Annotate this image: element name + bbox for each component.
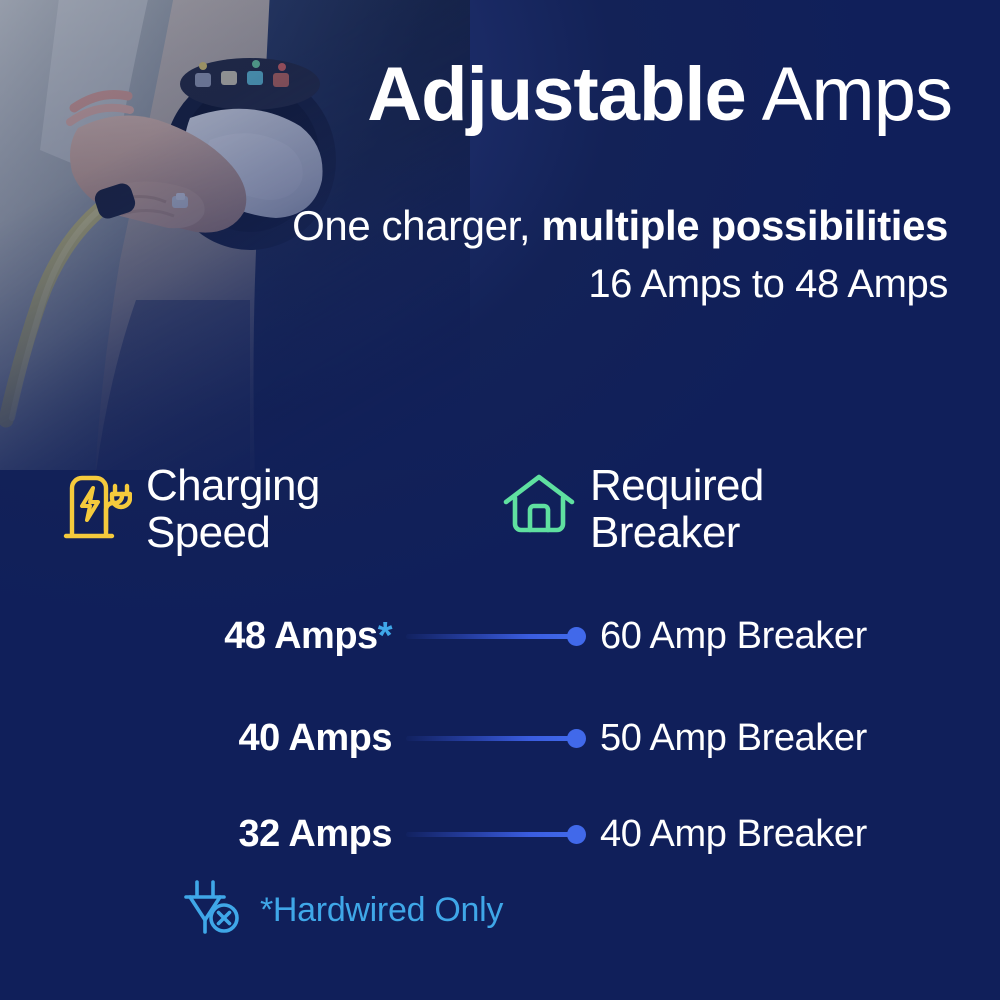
page-title: Adjustable Amps (336, 52, 952, 138)
footnote-text: *Hardwired Only (260, 891, 503, 930)
required-breaker-value: 40 Amp Breaker (600, 813, 867, 856)
table-row: 32 Amps 40 Amp Breaker (0, 806, 1000, 862)
column-header-required-breaker: Required Breaker (502, 462, 764, 556)
connector-line (400, 824, 586, 844)
table-row: 48 Amps* 60 Amp Breaker (0, 608, 1000, 664)
table-row: 40 Amps 50 Amp Breaker (0, 710, 1000, 766)
column-title-charging-speed: Charging Speed (146, 462, 320, 556)
footnote: *Hardwired Only (182, 880, 503, 941)
house-icon (502, 472, 576, 545)
column-title-required-breaker: Required Breaker (590, 462, 764, 556)
required-breaker-value: 60 Amp Breaker (600, 615, 867, 658)
connector-line-stroke (406, 736, 572, 741)
no-plug-icon (182, 880, 244, 941)
title-bold: Adjustable (367, 52, 746, 137)
infographic-poster: Adjustable Amps One charger, multiple po… (0, 0, 1000, 1000)
subtitle-light: One charger, (292, 202, 541, 249)
subtitle-line-2: 16 Amps to 48 Amps (200, 258, 948, 310)
subtitle-bold: multiple possibilities (541, 202, 948, 249)
subtitle-line-1: One charger, multiple possibilities (200, 198, 948, 254)
connector-endpoint-dot (567, 825, 586, 844)
charging-speed-value: 32 Amps (0, 813, 392, 856)
amps-label: 48 Amps (224, 615, 378, 657)
amps-label: 32 Amps (239, 813, 393, 855)
connector-endpoint-dot (567, 627, 586, 646)
required-breaker-value: 50 Amp Breaker (600, 717, 867, 760)
connector-line-stroke (406, 832, 572, 837)
connector-line (400, 728, 586, 748)
connector-endpoint-dot (567, 729, 586, 748)
footnote-marker: * (378, 615, 392, 657)
charging-speed-value: 40 Amps (0, 717, 392, 760)
connector-line-stroke (406, 634, 572, 639)
title-light: Amps (746, 52, 952, 137)
charging-speed-value: 48 Amps* (0, 615, 392, 658)
column-header-charging-speed: Charging Speed (62, 462, 320, 556)
ev-charger-icon (62, 472, 132, 549)
connector-line (400, 626, 586, 646)
amps-label: 40 Amps (239, 717, 393, 759)
